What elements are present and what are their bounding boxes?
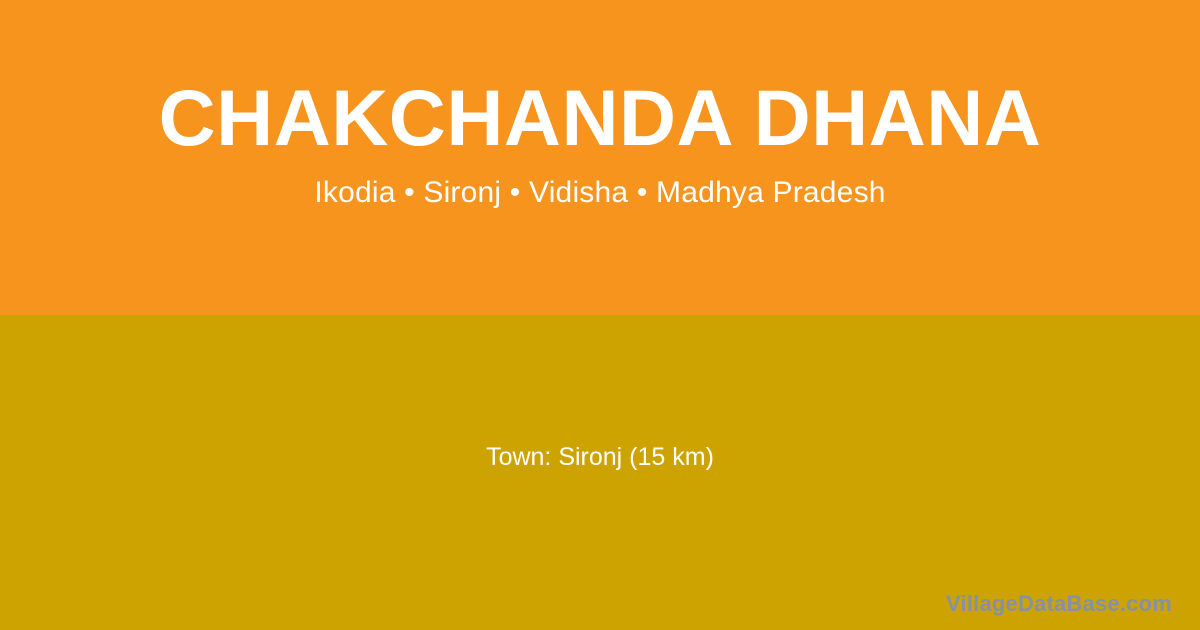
village-info-card: CHAKCHANDA DHANA Ikodia • Sironj • Vidis… [0, 0, 1200, 630]
page-title: CHAKCHANDA DHANA [159, 78, 1042, 158]
site-watermark: VillageDataBase.com [946, 592, 1172, 616]
nearest-town-info: Town: Sironj (15 km) [486, 442, 714, 472]
details-panel: Town: Sironj (15 km) VillageDataBase.com [0, 315, 1200, 630]
location-breadcrumb: Ikodia • Sironj • Vidisha • Madhya Prade… [314, 176, 885, 210]
hero-banner: CHAKCHANDA DHANA Ikodia • Sironj • Vidis… [0, 0, 1200, 315]
